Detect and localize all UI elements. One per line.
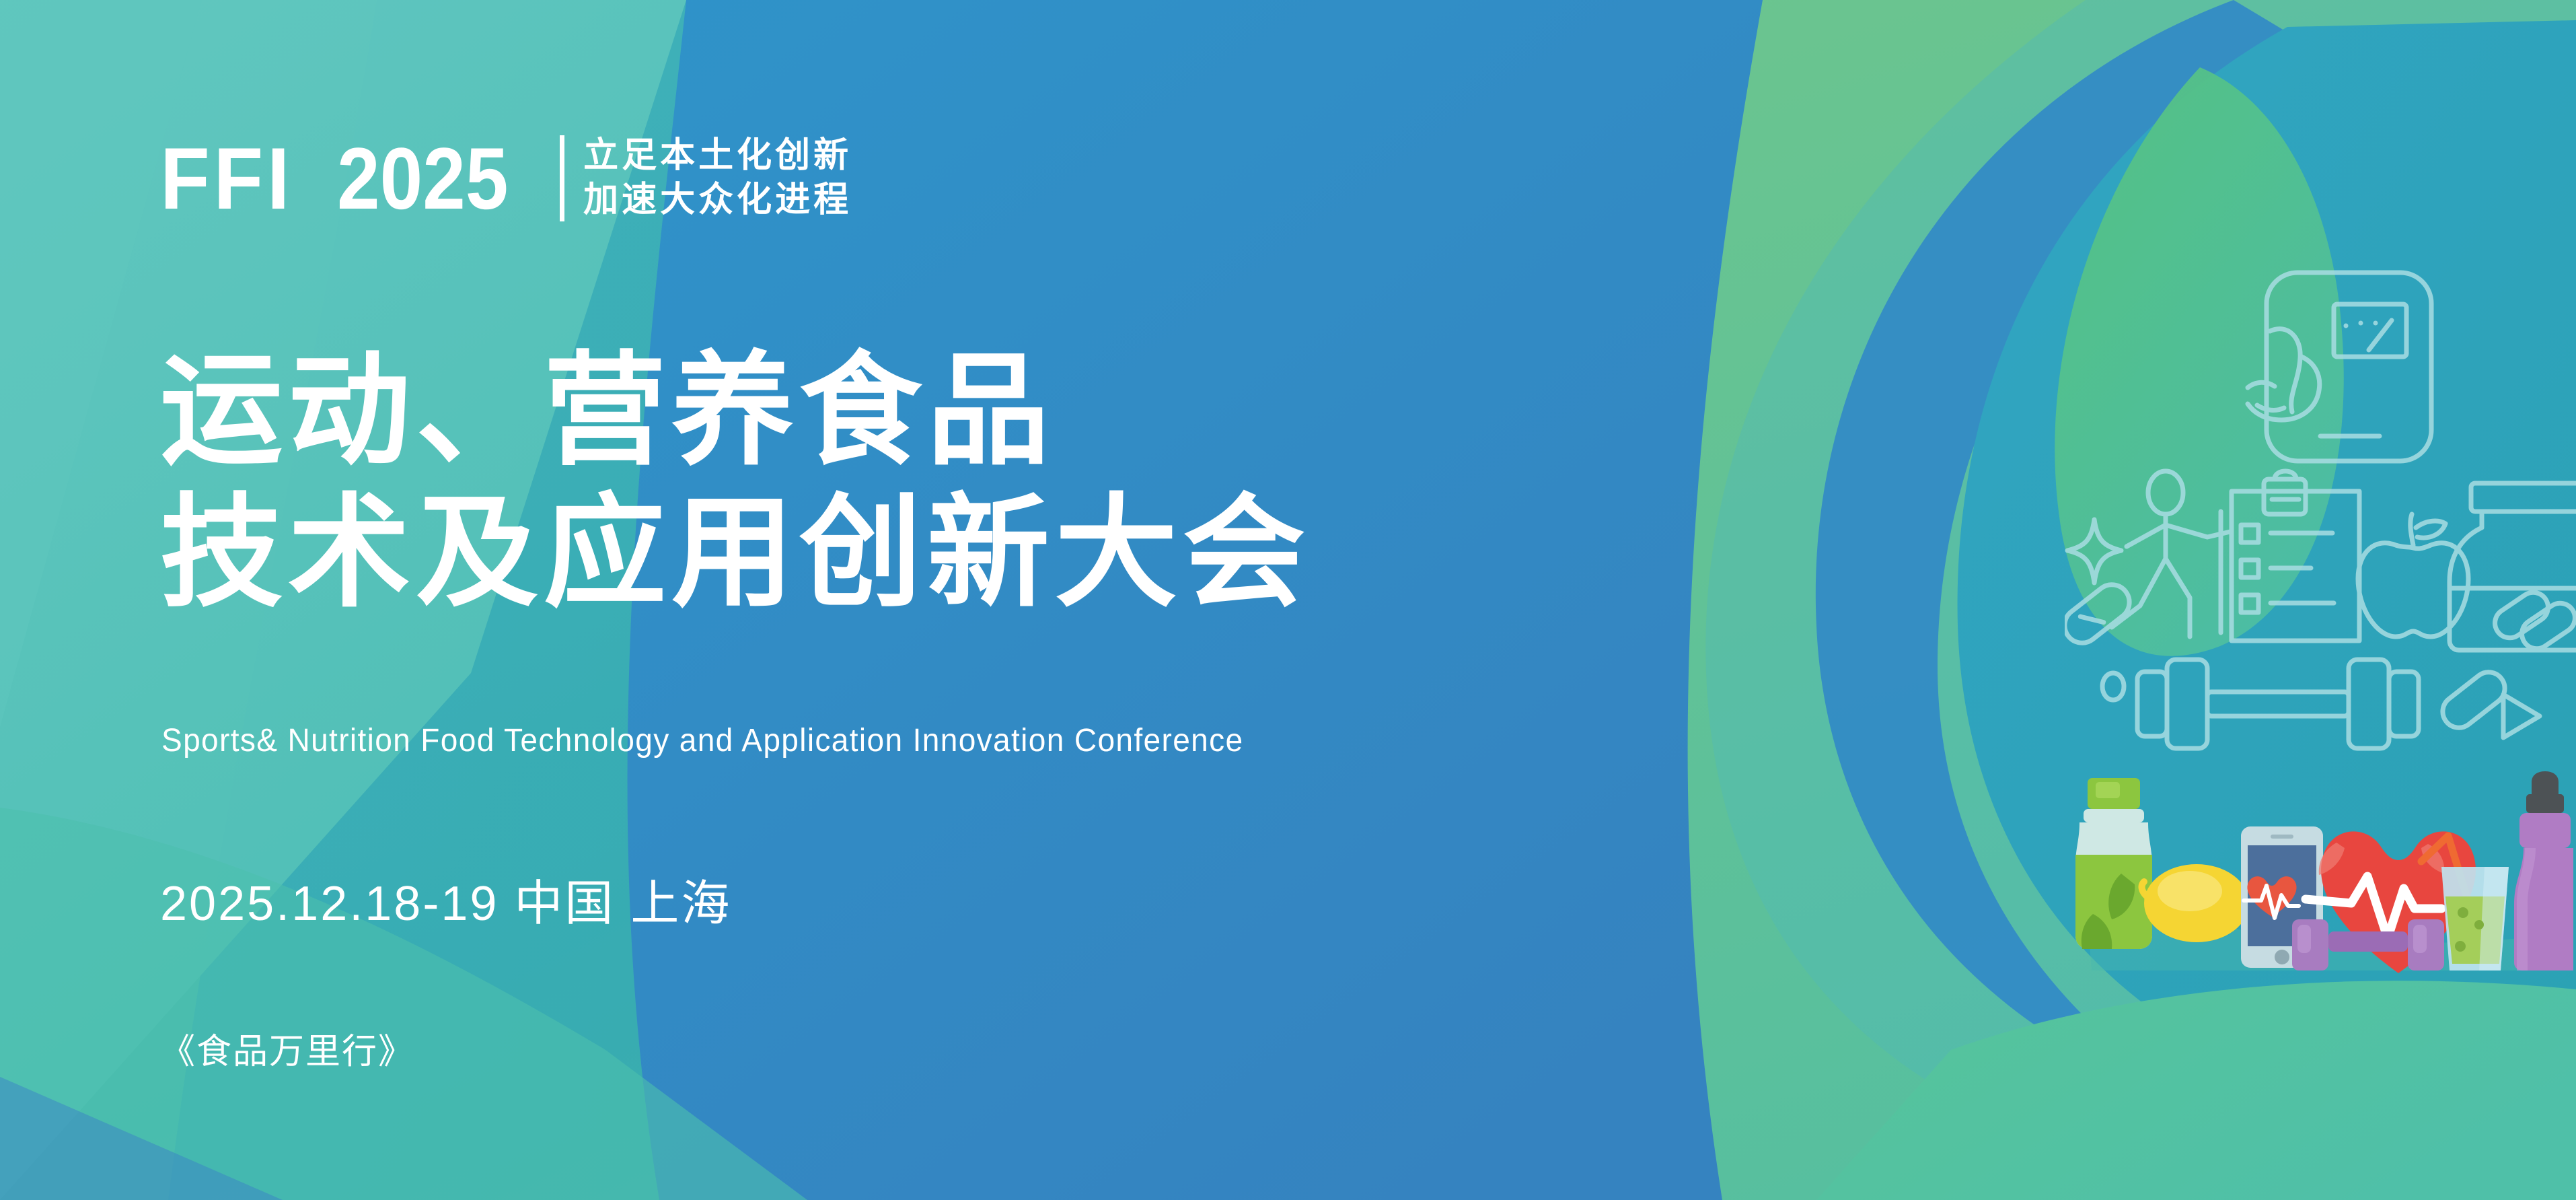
juice-bottle-icon: [2075, 778, 2152, 949]
health-illustration: [2065, 256, 2576, 1063]
capsule-pill-icon: [2436, 666, 2511, 734]
play-triangle-icon: [2503, 695, 2540, 738]
sports-bottle-icon: [2514, 771, 2573, 970]
flex-bicep-icon: [2248, 329, 2320, 420]
running-person-icon: [2112, 471, 2230, 637]
clipboard-checklist-icon: [2221, 471, 2359, 641]
dumbbell-outline-icon: [2102, 660, 2419, 748]
sparkle-icon: [2067, 520, 2121, 583]
scale-icon: [2267, 273, 2431, 461]
capsule-pill-icon: [2065, 577, 2137, 649]
conference-banner: FFI 2025 立足本土化创新 加速大众化进程 运动、营养食品 技术及应用创新…: [0, 0, 2576, 1200]
